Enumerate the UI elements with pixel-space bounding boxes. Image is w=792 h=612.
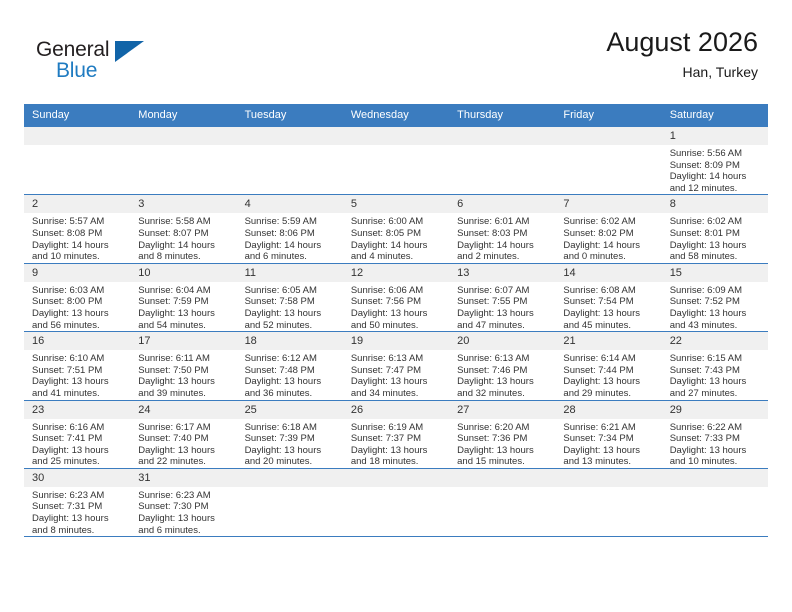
page-subtitle: Han, Turkey xyxy=(606,62,758,82)
day-number-band xyxy=(555,127,661,145)
sunset-text: Sunset: 7:59 PM xyxy=(138,296,230,308)
weekday-header-sunday: Sunday xyxy=(24,104,130,127)
day-number: 8 xyxy=(662,195,768,213)
daylight-text: Daylight: 13 hours and 41 minutes. xyxy=(32,376,124,399)
day-number: 2 xyxy=(24,195,130,213)
daylight-text: Daylight: 13 hours and 56 minutes. xyxy=(32,308,124,331)
sunrise-text: Sunrise: 6:04 AM xyxy=(138,285,230,297)
sunrise-text: Sunrise: 6:05 AM xyxy=(245,285,337,297)
calendar-day-cell[interactable]: 12Sunrise: 6:06 AMSunset: 7:56 PMDayligh… xyxy=(343,263,449,331)
calendar-cell-empty xyxy=(449,468,555,536)
daylight-text: Daylight: 13 hours and 58 minutes. xyxy=(670,240,762,263)
sunset-text: Sunset: 7:40 PM xyxy=(138,433,230,445)
sunrise-text: Sunrise: 6:16 AM xyxy=(32,422,124,434)
day-details: Sunrise: 6:02 AMSunset: 8:01 PMDaylight:… xyxy=(662,213,768,262)
day-number: 10 xyxy=(130,264,236,282)
sunrise-text: Sunrise: 6:09 AM xyxy=(670,285,762,297)
daylight-text: Daylight: 13 hours and 25 minutes. xyxy=(32,445,124,468)
day-number-band xyxy=(237,127,343,145)
weekday-header-thursday: Thursday xyxy=(449,104,555,127)
daylight-text: Daylight: 13 hours and 13 minutes. xyxy=(563,445,655,468)
sunset-text: Sunset: 7:55 PM xyxy=(457,296,549,308)
calendar-day-cell[interactable]: 4Sunrise: 5:59 AMSunset: 8:06 PMDaylight… xyxy=(237,195,343,263)
day-number-band xyxy=(343,127,449,145)
sunset-text: Sunset: 8:06 PM xyxy=(245,228,337,240)
daylight-text: Daylight: 14 hours and 4 minutes. xyxy=(351,240,443,263)
calendar-day-cell[interactable]: 22Sunrise: 6:15 AMSunset: 7:43 PMDayligh… xyxy=(662,332,768,400)
day-details: Sunrise: 6:12 AMSunset: 7:48 PMDaylight:… xyxy=(237,350,343,399)
daylight-text: Daylight: 13 hours and 27 minutes. xyxy=(670,376,762,399)
day-number: 27 xyxy=(449,401,555,419)
daylight-text: Daylight: 14 hours and 2 minutes. xyxy=(457,240,549,263)
sunset-text: Sunset: 7:41 PM xyxy=(32,433,124,445)
daylight-text: Daylight: 13 hours and 52 minutes. xyxy=(245,308,337,331)
calendar-day-cell[interactable]: 19Sunrise: 6:13 AMSunset: 7:47 PMDayligh… xyxy=(343,332,449,400)
calendar-day-cell[interactable]: 11Sunrise: 6:05 AMSunset: 7:58 PMDayligh… xyxy=(237,263,343,331)
day-number: 13 xyxy=(449,264,555,282)
calendar-day-cell[interactable]: 29Sunrise: 6:22 AMSunset: 7:33 PMDayligh… xyxy=(662,400,768,468)
sunrise-text: Sunrise: 6:02 AM xyxy=(563,216,655,228)
calendar-day-cell[interactable]: 1Sunrise: 5:56 AMSunset: 8:09 PMDaylight… xyxy=(662,127,768,195)
calendar-week-row: 16Sunrise: 6:10 AMSunset: 7:51 PMDayligh… xyxy=(24,332,768,400)
daylight-text: Daylight: 14 hours and 10 minutes. xyxy=(32,240,124,263)
sunset-text: Sunset: 8:09 PM xyxy=(670,160,762,172)
day-number: 22 xyxy=(662,332,768,350)
calendar-cell-empty xyxy=(237,127,343,195)
daylight-text: Daylight: 13 hours and 20 minutes. xyxy=(245,445,337,468)
day-number: 15 xyxy=(662,264,768,282)
calendar-cell-empty xyxy=(662,468,768,536)
daylight-text: Daylight: 14 hours and 8 minutes. xyxy=(138,240,230,263)
calendar-day-cell[interactable]: 13Sunrise: 6:07 AMSunset: 7:55 PMDayligh… xyxy=(449,263,555,331)
calendar-day-cell[interactable]: 20Sunrise: 6:13 AMSunset: 7:46 PMDayligh… xyxy=(449,332,555,400)
calendar-day-cell[interactable]: 7Sunrise: 6:02 AMSunset: 8:02 PMDaylight… xyxy=(555,195,661,263)
sunrise-text: Sunrise: 5:57 AM xyxy=(32,216,124,228)
day-details: Sunrise: 6:04 AMSunset: 7:59 PMDaylight:… xyxy=(130,282,236,331)
daylight-text: Daylight: 13 hours and 22 minutes. xyxy=(138,445,230,468)
day-number: 5 xyxy=(343,195,449,213)
day-number: 12 xyxy=(343,264,449,282)
calendar-day-cell[interactable]: 9Sunrise: 6:03 AMSunset: 8:00 PMDaylight… xyxy=(24,263,130,331)
day-details: Sunrise: 6:01 AMSunset: 8:03 PMDaylight:… xyxy=(449,213,555,262)
sunrise-text: Sunrise: 6:13 AM xyxy=(457,353,549,365)
sunrise-text: Sunrise: 6:13 AM xyxy=(351,353,443,365)
calendar-cell-empty xyxy=(343,468,449,536)
calendar-day-cell[interactable]: 16Sunrise: 6:10 AMSunset: 7:51 PMDayligh… xyxy=(24,332,130,400)
sunset-text: Sunset: 7:54 PM xyxy=(563,296,655,308)
day-details: Sunrise: 6:23 AMSunset: 7:31 PMDaylight:… xyxy=(24,487,130,536)
day-details: Sunrise: 6:13 AMSunset: 7:46 PMDaylight:… xyxy=(449,350,555,399)
day-number: 16 xyxy=(24,332,130,350)
sunrise-text: Sunrise: 6:21 AM xyxy=(563,422,655,434)
sunrise-text: Sunrise: 6:11 AM xyxy=(138,353,230,365)
calendar-day-cell[interactable]: 24Sunrise: 6:17 AMSunset: 7:40 PMDayligh… xyxy=(130,400,236,468)
calendar-body: 1Sunrise: 5:56 AMSunset: 8:09 PMDaylight… xyxy=(24,127,768,537)
daylight-text: Daylight: 13 hours and 34 minutes. xyxy=(351,376,443,399)
daylight-text: Daylight: 13 hours and 29 minutes. xyxy=(563,376,655,399)
day-number: 29 xyxy=(662,401,768,419)
calendar-page: General Blue August 2026 Han, Turkey Sun… xyxy=(0,0,792,612)
daylight-text: Daylight: 14 hours and 0 minutes. xyxy=(563,240,655,263)
daylight-text: Daylight: 13 hours and 18 minutes. xyxy=(351,445,443,468)
sunset-text: Sunset: 7:36 PM xyxy=(457,433,549,445)
sunset-text: Sunset: 7:52 PM xyxy=(670,296,762,308)
calendar-day-cell[interactable]: 15Sunrise: 6:09 AMSunset: 7:52 PMDayligh… xyxy=(662,263,768,331)
day-details: Sunrise: 6:13 AMSunset: 7:47 PMDaylight:… xyxy=(343,350,449,399)
day-details: Sunrise: 6:17 AMSunset: 7:40 PMDaylight:… xyxy=(130,419,236,468)
general-blue-logo[interactable]: General Blue xyxy=(36,38,166,90)
weekday-header-monday: Monday xyxy=(130,104,236,127)
daylight-text: Daylight: 14 hours and 6 minutes. xyxy=(245,240,337,263)
calendar-day-cell[interactable]: 8Sunrise: 6:02 AMSunset: 8:01 PMDaylight… xyxy=(662,195,768,263)
day-number: 25 xyxy=(237,401,343,419)
calendar-cell-empty xyxy=(449,127,555,195)
day-details: Sunrise: 5:56 AMSunset: 8:09 PMDaylight:… xyxy=(662,145,768,194)
sunset-text: Sunset: 7:33 PM xyxy=(670,433,762,445)
day-details: Sunrise: 6:15 AMSunset: 7:43 PMDaylight:… xyxy=(662,350,768,399)
daylight-text: Daylight: 13 hours and 45 minutes. xyxy=(563,308,655,331)
sunrise-text: Sunrise: 6:17 AM xyxy=(138,422,230,434)
day-number: 26 xyxy=(343,401,449,419)
day-details: Sunrise: 6:21 AMSunset: 7:34 PMDaylight:… xyxy=(555,419,661,468)
day-number: 28 xyxy=(555,401,661,419)
weekday-header-tuesday: Tuesday xyxy=(237,104,343,127)
sunrise-text: Sunrise: 6:02 AM xyxy=(670,216,762,228)
sunset-text: Sunset: 8:08 PM xyxy=(32,228,124,240)
sunset-text: Sunset: 7:56 PM xyxy=(351,296,443,308)
calendar-day-cell[interactable]: 30Sunrise: 6:23 AMSunset: 7:31 PMDayligh… xyxy=(24,468,130,536)
day-details: Sunrise: 6:08 AMSunset: 7:54 PMDaylight:… xyxy=(555,282,661,331)
sunrise-text: Sunrise: 5:58 AM xyxy=(138,216,230,228)
day-number-band xyxy=(237,469,343,487)
daylight-text: Daylight: 13 hours and 6 minutes. xyxy=(138,513,230,536)
daylight-text: Daylight: 13 hours and 15 minutes. xyxy=(457,445,549,468)
sunrise-text: Sunrise: 6:15 AM xyxy=(670,353,762,365)
page-title: August 2026 xyxy=(606,26,758,58)
day-details: Sunrise: 6:02 AMSunset: 8:02 PMDaylight:… xyxy=(555,213,661,262)
day-number: 4 xyxy=(237,195,343,213)
calendar-grid: SundayMondayTuesdayWednesdayThursdayFrid… xyxy=(24,104,768,537)
page-header: General Blue August 2026 Han, Turkey xyxy=(24,26,768,96)
daylight-text: Daylight: 13 hours and 47 minutes. xyxy=(457,308,549,331)
day-number: 23 xyxy=(24,401,130,419)
weekday-header-wednesday: Wednesday xyxy=(343,104,449,127)
sunset-text: Sunset: 7:58 PM xyxy=(245,296,337,308)
calendar-day-cell[interactable]: 18Sunrise: 6:12 AMSunset: 7:48 PMDayligh… xyxy=(237,332,343,400)
calendar-cell-empty xyxy=(237,468,343,536)
weekday-headers: SundayMondayTuesdayWednesdayThursdayFrid… xyxy=(24,104,768,127)
sunset-text: Sunset: 7:48 PM xyxy=(245,365,337,377)
day-number-band xyxy=(130,127,236,145)
calendar-cell-empty xyxy=(24,127,130,195)
daylight-text: Daylight: 13 hours and 8 minutes. xyxy=(32,513,124,536)
title-block: August 2026 Han, Turkey xyxy=(606,26,758,82)
weekday-header-friday: Friday xyxy=(555,104,661,127)
day-number-band xyxy=(343,469,449,487)
sunset-text: Sunset: 8:03 PM xyxy=(457,228,549,240)
sunset-text: Sunset: 7:50 PM xyxy=(138,365,230,377)
calendar-day-cell[interactable]: 3Sunrise: 5:58 AMSunset: 8:07 PMDaylight… xyxy=(130,195,236,263)
day-number-band xyxy=(449,469,555,487)
logo-text-blue: Blue xyxy=(56,59,97,83)
calendar-day-cell[interactable]: 17Sunrise: 6:11 AMSunset: 7:50 PMDayligh… xyxy=(130,332,236,400)
sunrise-text: Sunrise: 6:06 AM xyxy=(351,285,443,297)
sunrise-text: Sunrise: 6:18 AM xyxy=(245,422,337,434)
day-details: Sunrise: 6:03 AMSunset: 8:00 PMDaylight:… xyxy=(24,282,130,331)
calendar-cell-empty xyxy=(130,127,236,195)
day-details: Sunrise: 5:59 AMSunset: 8:06 PMDaylight:… xyxy=(237,213,343,262)
calendar-day-cell[interactable]: 14Sunrise: 6:08 AMSunset: 7:54 PMDayligh… xyxy=(555,263,661,331)
sunset-text: Sunset: 7:30 PM xyxy=(138,501,230,513)
sunrise-text: Sunrise: 6:08 AM xyxy=(563,285,655,297)
sunset-text: Sunset: 7:47 PM xyxy=(351,365,443,377)
day-details: Sunrise: 6:09 AMSunset: 7:52 PMDaylight:… xyxy=(662,282,768,331)
day-details: Sunrise: 6:05 AMSunset: 7:58 PMDaylight:… xyxy=(237,282,343,331)
day-details: Sunrise: 5:57 AMSunset: 8:08 PMDaylight:… xyxy=(24,213,130,262)
daylight-text: Daylight: 13 hours and 32 minutes. xyxy=(457,376,549,399)
sunset-text: Sunset: 8:07 PM xyxy=(138,228,230,240)
sunrise-text: Sunrise: 6:00 AM xyxy=(351,216,443,228)
sunset-text: Sunset: 8:02 PM xyxy=(563,228,655,240)
day-details: Sunrise: 6:18 AMSunset: 7:39 PMDaylight:… xyxy=(237,419,343,468)
calendar-cell-empty xyxy=(555,468,661,536)
day-details: Sunrise: 6:16 AMSunset: 7:41 PMDaylight:… xyxy=(24,419,130,468)
sunset-text: Sunset: 7:51 PM xyxy=(32,365,124,377)
sunset-text: Sunset: 7:39 PM xyxy=(245,433,337,445)
sunrise-text: Sunrise: 6:23 AM xyxy=(138,490,230,502)
day-details: Sunrise: 6:23 AMSunset: 7:30 PMDaylight:… xyxy=(130,487,236,536)
day-number: 24 xyxy=(130,401,236,419)
calendar-day-cell[interactable]: 10Sunrise: 6:04 AMSunset: 7:59 PMDayligh… xyxy=(130,263,236,331)
sunset-text: Sunset: 7:37 PM xyxy=(351,433,443,445)
sunrise-text: Sunrise: 5:59 AM xyxy=(245,216,337,228)
daylight-text: Daylight: 13 hours and 50 minutes. xyxy=(351,308,443,331)
day-number: 9 xyxy=(24,264,130,282)
day-number: 17 xyxy=(130,332,236,350)
sunrise-text: Sunrise: 6:14 AM xyxy=(563,353,655,365)
sunrise-text: Sunrise: 6:03 AM xyxy=(32,285,124,297)
day-details: Sunrise: 6:07 AMSunset: 7:55 PMDaylight:… xyxy=(449,282,555,331)
calendar-day-cell[interactable]: 21Sunrise: 6:14 AMSunset: 7:44 PMDayligh… xyxy=(555,332,661,400)
day-number: 18 xyxy=(237,332,343,350)
day-number: 19 xyxy=(343,332,449,350)
day-number: 31 xyxy=(130,469,236,487)
calendar-day-cell[interactable]: 26Sunrise: 6:19 AMSunset: 7:37 PMDayligh… xyxy=(343,400,449,468)
day-details: Sunrise: 6:11 AMSunset: 7:50 PMDaylight:… xyxy=(130,350,236,399)
sunrise-text: Sunrise: 6:20 AM xyxy=(457,422,549,434)
sunrise-text: Sunrise: 6:12 AM xyxy=(245,353,337,365)
day-number: 7 xyxy=(555,195,661,213)
sunset-text: Sunset: 7:31 PM xyxy=(32,501,124,513)
day-number-band xyxy=(24,127,130,145)
day-number: 1 xyxy=(662,127,768,145)
daylight-text: Daylight: 14 hours and 12 minutes. xyxy=(670,171,762,194)
sunrise-text: Sunrise: 6:01 AM xyxy=(457,216,549,228)
daylight-text: Daylight: 13 hours and 54 minutes. xyxy=(138,308,230,331)
logo-flag-icon xyxy=(115,41,144,62)
calendar-day-cell[interactable]: 27Sunrise: 6:20 AMSunset: 7:36 PMDayligh… xyxy=(449,400,555,468)
calendar-week-row: 2Sunrise: 5:57 AMSunset: 8:08 PMDaylight… xyxy=(24,195,768,263)
sunset-text: Sunset: 8:00 PM xyxy=(32,296,124,308)
calendar-cell-empty xyxy=(343,127,449,195)
day-number-band xyxy=(555,469,661,487)
weekday-header-saturday: Saturday xyxy=(662,104,768,127)
day-details: Sunrise: 6:06 AMSunset: 7:56 PMDaylight:… xyxy=(343,282,449,331)
sunset-text: Sunset: 8:01 PM xyxy=(670,228,762,240)
day-number: 21 xyxy=(555,332,661,350)
day-details: Sunrise: 6:00 AMSunset: 8:05 PMDaylight:… xyxy=(343,213,449,262)
sunrise-text: Sunrise: 6:10 AM xyxy=(32,353,124,365)
daylight-text: Daylight: 13 hours and 39 minutes. xyxy=(138,376,230,399)
sunrise-text: Sunrise: 6:07 AM xyxy=(457,285,549,297)
calendar-day-cell[interactable]: 31Sunrise: 6:23 AMSunset: 7:30 PMDayligh… xyxy=(130,468,236,536)
day-number: 20 xyxy=(449,332,555,350)
daylight-text: Daylight: 13 hours and 43 minutes. xyxy=(670,308,762,331)
sunrise-text: Sunrise: 6:19 AM xyxy=(351,422,443,434)
day-details: Sunrise: 6:10 AMSunset: 7:51 PMDaylight:… xyxy=(24,350,130,399)
calendar-header-row: SundayMondayTuesdayWednesdayThursdayFrid… xyxy=(24,104,768,127)
calendar-day-cell[interactable]: 25Sunrise: 6:18 AMSunset: 7:39 PMDayligh… xyxy=(237,400,343,468)
sunset-text: Sunset: 7:44 PM xyxy=(563,365,655,377)
calendar-week-row: 23Sunrise: 6:16 AMSunset: 7:41 PMDayligh… xyxy=(24,400,768,468)
day-number: 3 xyxy=(130,195,236,213)
calendar-week-row: 1Sunrise: 5:56 AMSunset: 8:09 PMDaylight… xyxy=(24,127,768,195)
calendar-cell-empty xyxy=(555,127,661,195)
calendar-day-cell[interactable]: 6Sunrise: 6:01 AMSunset: 8:03 PMDaylight… xyxy=(449,195,555,263)
day-number: 30 xyxy=(24,469,130,487)
day-details: Sunrise: 6:14 AMSunset: 7:44 PMDaylight:… xyxy=(555,350,661,399)
day-details: Sunrise: 6:22 AMSunset: 7:33 PMDaylight:… xyxy=(662,419,768,468)
calendar-day-cell[interactable]: 2Sunrise: 5:57 AMSunset: 8:08 PMDaylight… xyxy=(24,195,130,263)
calendar-week-row: 9Sunrise: 6:03 AMSunset: 8:00 PMDaylight… xyxy=(24,263,768,331)
calendar-week-row: 30Sunrise: 6:23 AMSunset: 7:31 PMDayligh… xyxy=(24,468,768,536)
sunset-text: Sunset: 8:05 PM xyxy=(351,228,443,240)
sunrise-text: Sunrise: 6:22 AM xyxy=(670,422,762,434)
day-number-band xyxy=(662,469,768,487)
sunset-text: Sunset: 7:34 PM xyxy=(563,433,655,445)
daylight-text: Daylight: 13 hours and 36 minutes. xyxy=(245,376,337,399)
calendar-day-cell[interactable]: 5Sunrise: 6:00 AMSunset: 8:05 PMDaylight… xyxy=(343,195,449,263)
calendar-day-cell[interactable]: 23Sunrise: 6:16 AMSunset: 7:41 PMDayligh… xyxy=(24,400,130,468)
calendar-day-cell[interactable]: 28Sunrise: 6:21 AMSunset: 7:34 PMDayligh… xyxy=(555,400,661,468)
day-number: 11 xyxy=(237,264,343,282)
sunset-text: Sunset: 7:43 PM xyxy=(670,365,762,377)
day-number: 6 xyxy=(449,195,555,213)
day-details: Sunrise: 6:19 AMSunset: 7:37 PMDaylight:… xyxy=(343,419,449,468)
day-details: Sunrise: 6:20 AMSunset: 7:36 PMDaylight:… xyxy=(449,419,555,468)
sunset-text: Sunset: 7:46 PM xyxy=(457,365,549,377)
day-number-band xyxy=(449,127,555,145)
daylight-text: Daylight: 13 hours and 10 minutes. xyxy=(670,445,762,468)
day-details: Sunrise: 5:58 AMSunset: 8:07 PMDaylight:… xyxy=(130,213,236,262)
day-number: 14 xyxy=(555,264,661,282)
sunrise-text: Sunrise: 5:56 AM xyxy=(670,148,762,160)
sunrise-text: Sunrise: 6:23 AM xyxy=(32,490,124,502)
